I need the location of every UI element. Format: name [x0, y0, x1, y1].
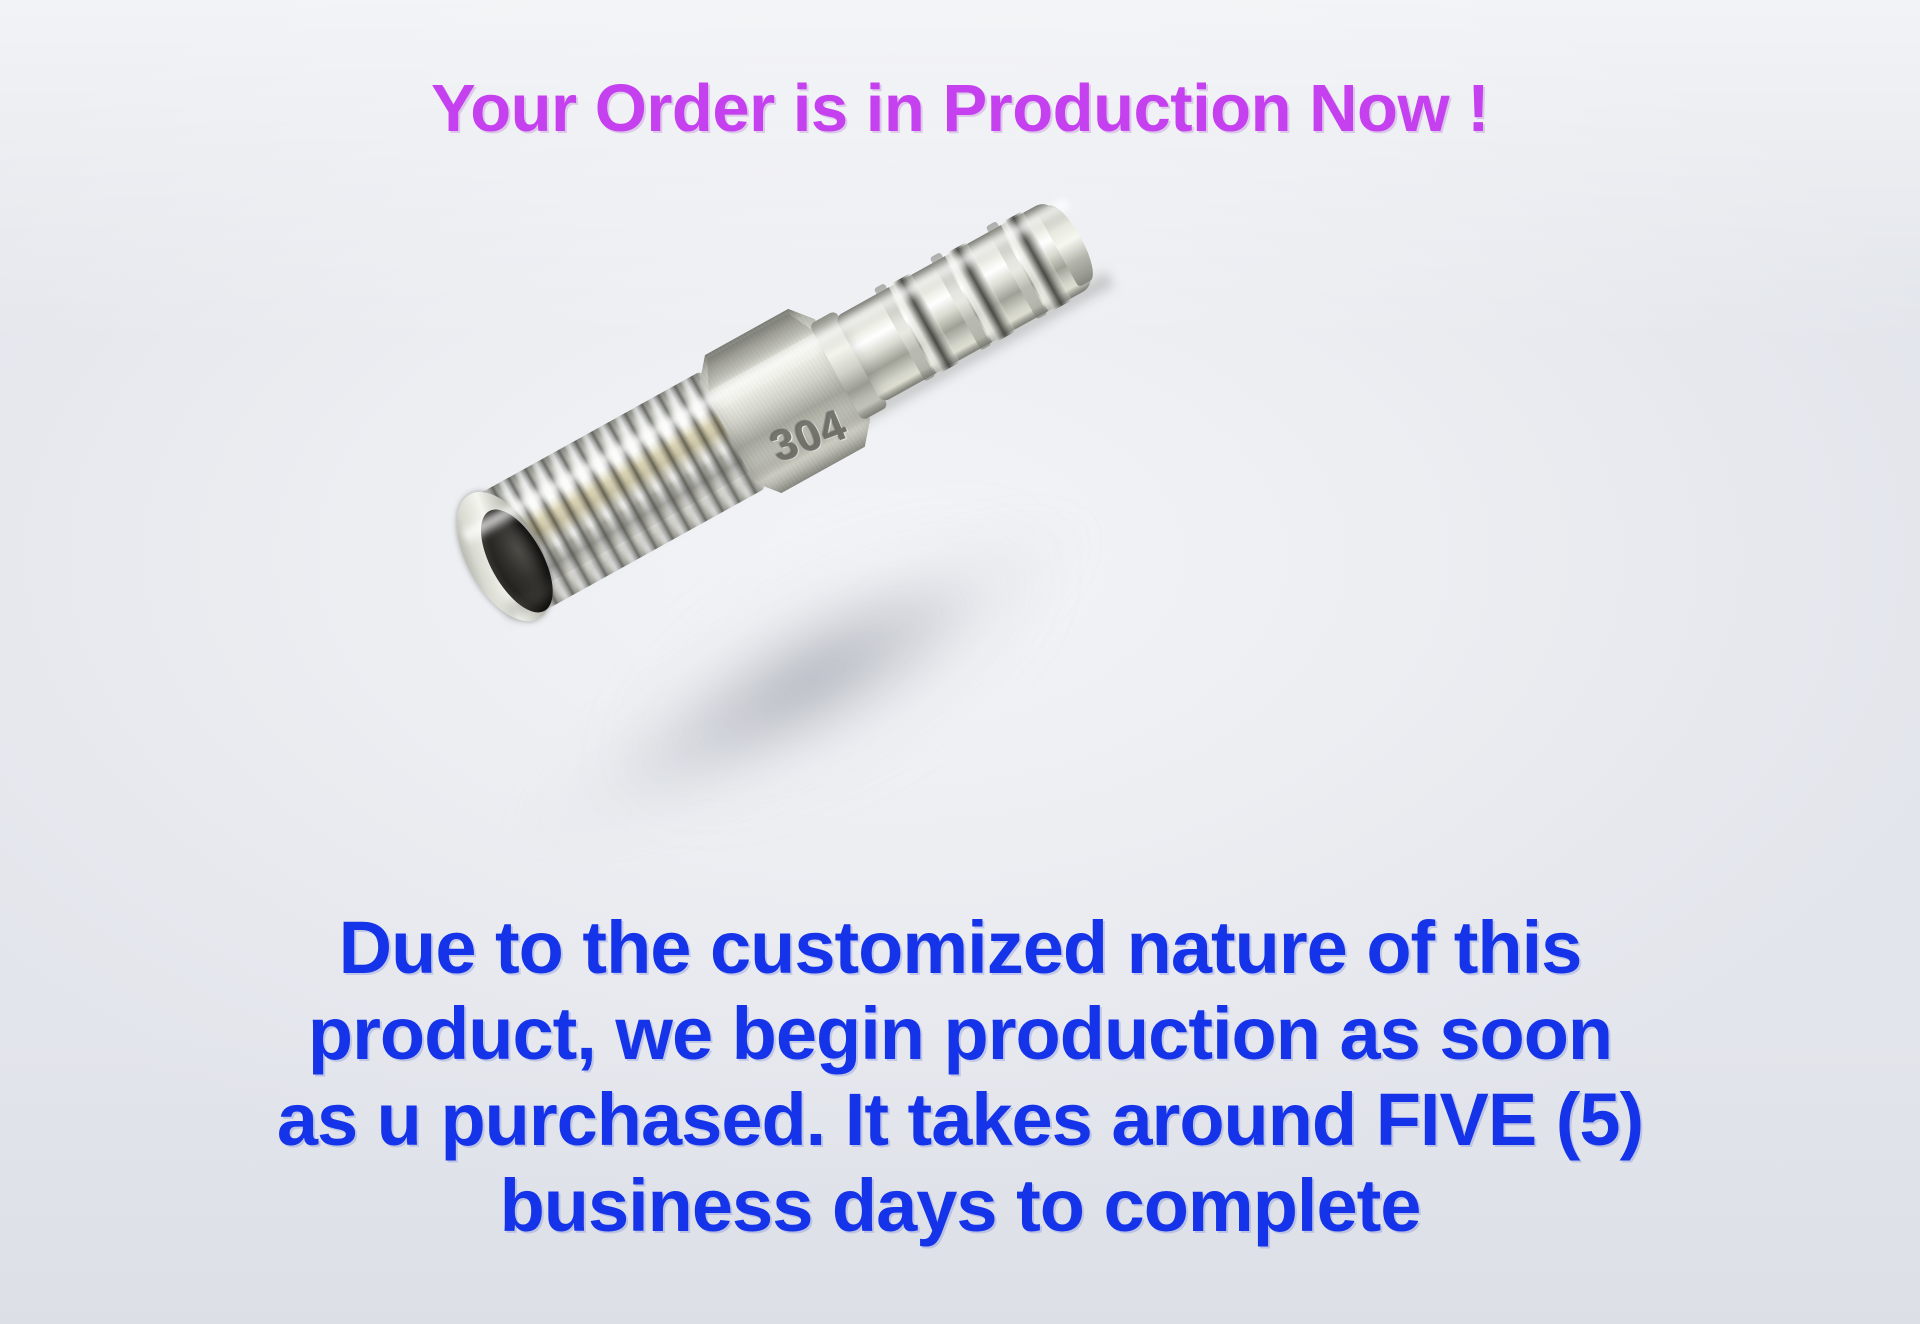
production-notice: Due to the customized nature of this pro…: [90, 905, 1830, 1249]
notice-line: Due to the customized nature of this: [90, 905, 1830, 991]
notice-line: business days to complete: [90, 1163, 1830, 1249]
page-title: Your Order is in Production Now !: [0, 74, 1920, 144]
notice-line: as u purchased. It takes around FIVE (5): [90, 1077, 1830, 1163]
notice-line: product, we begin production as soon: [90, 991, 1830, 1077]
product-photo: 304: [452, 300, 1182, 750]
promo-banner: Your Order is in Production Now ! 304: [0, 0, 1920, 1324]
